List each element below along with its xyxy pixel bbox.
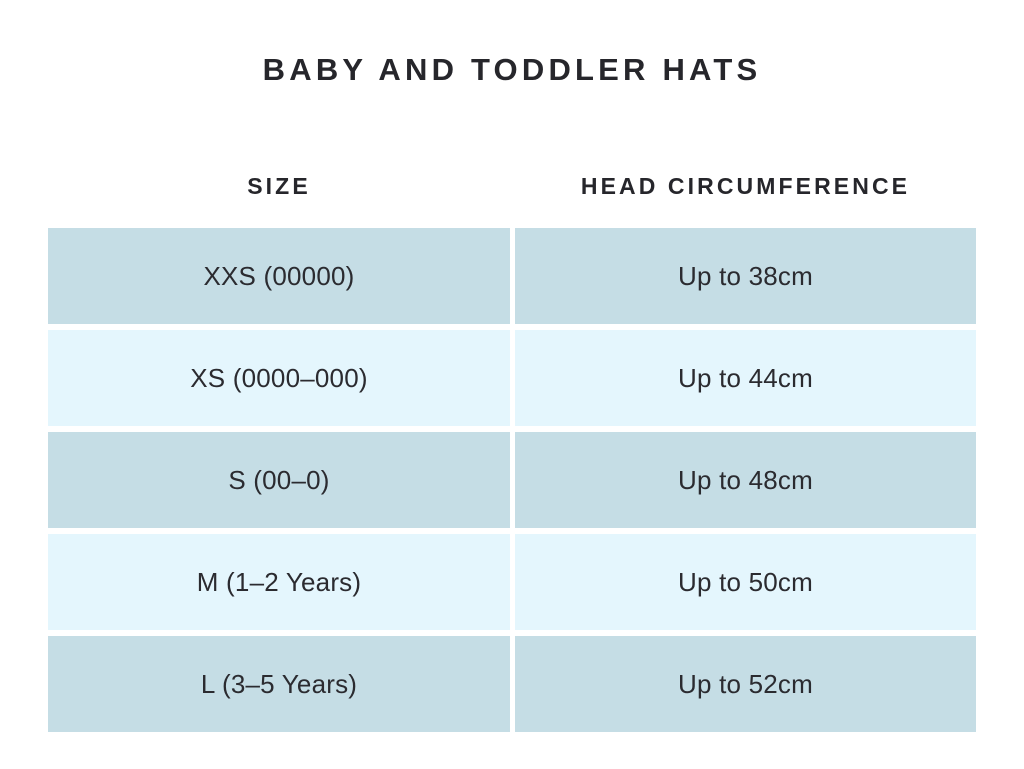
column-header-head-circumference: HEAD CIRCUMFERENCE (515, 168, 976, 204)
cell-head-circumference: Up to 50cm (515, 534, 976, 630)
cell-size: XS (0000–000) (48, 330, 510, 426)
table-row: XXS (00000) Up to 38cm (48, 228, 976, 324)
table-row: S (00–0) Up to 48cm (48, 432, 976, 528)
table-row: L (3–5 Years) Up to 52cm (48, 636, 976, 732)
cell-head-circumference: Up to 38cm (515, 228, 976, 324)
cell-size: XXS (00000) (48, 228, 510, 324)
cell-size: L (3–5 Years) (48, 636, 510, 732)
table-header-row: SIZE HEAD CIRCUMFERENCE (48, 168, 976, 204)
page-title: BABY AND TODDLER HATS (0, 52, 1024, 88)
cell-size: M (1–2 Years) (48, 534, 510, 630)
size-chart-page: BABY AND TODDLER HATS SIZE HEAD CIRCUMFE… (0, 0, 1024, 769)
table-row: XS (0000–000) Up to 44cm (48, 330, 976, 426)
cell-head-circumference: Up to 44cm (515, 330, 976, 426)
cell-size: S (00–0) (48, 432, 510, 528)
table-row: M (1–2 Years) Up to 50cm (48, 534, 976, 630)
column-header-size: SIZE (48, 168, 510, 204)
cell-head-circumference: Up to 48cm (515, 432, 976, 528)
size-chart-table: XXS (00000) Up to 38cm XS (0000–000) Up … (48, 228, 976, 732)
cell-head-circumference: Up to 52cm (515, 636, 976, 732)
